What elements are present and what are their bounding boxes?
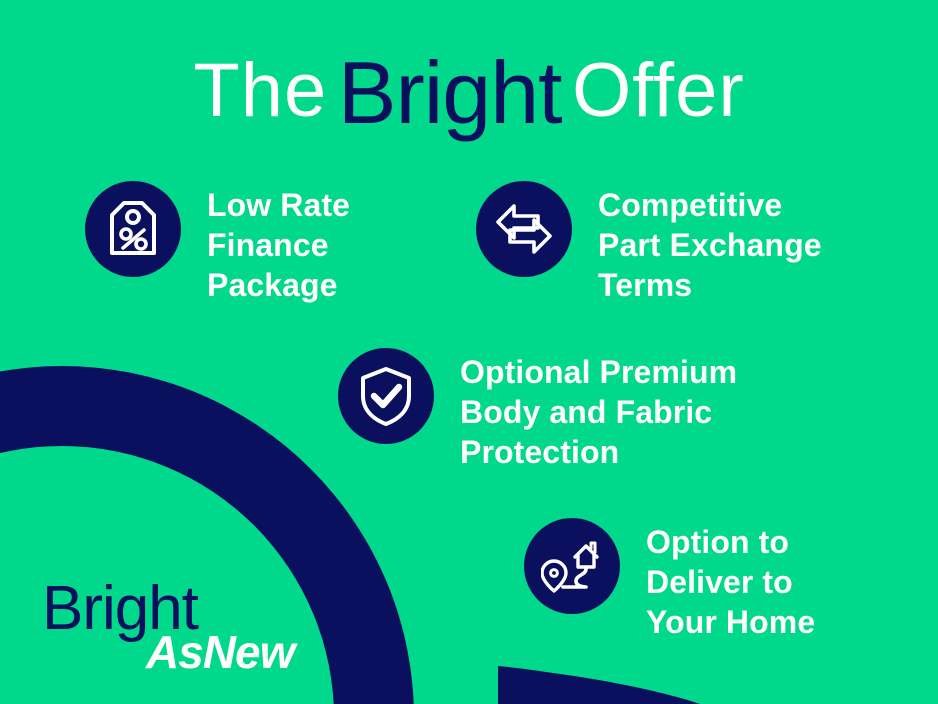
page-title: The Bright Offer — [0, 42, 938, 130]
navy-wedge-lower — [498, 666, 700, 704]
feature-label: Option to Deliver to Your Home — [646, 518, 815, 642]
feature-item-part-exchange: Competitive Part Exchange Terms — [476, 181, 822, 305]
navy-wedge — [500, 668, 700, 704]
delivery-route-home-icon — [541, 537, 603, 595]
title-brand-wordmark: Bright — [338, 49, 562, 137]
feature-icon-badge — [476, 181, 572, 277]
shield-check-icon — [359, 366, 413, 426]
feature-label: Optional Premium Body and Fabric Protect… — [460, 348, 737, 472]
feature-label: Competitive Part Exchange Terms — [598, 181, 822, 305]
feature-item-protection: Optional Premium Body and Fabric Protect… — [338, 348, 737, 472]
title-suffix: Offer — [572, 48, 745, 133]
feature-item-home-delivery: Option to Deliver to Your Home — [524, 518, 815, 642]
title-prefix: The — [193, 48, 327, 133]
feature-label: Low Rate Finance Package — [207, 181, 350, 305]
logo-secondary-text: AsNew — [146, 629, 294, 675]
exchange-arrows-icon — [494, 200, 554, 258]
poster-canvas: The Bright Offer Low Rate Finance Packag… — [0, 0, 938, 704]
feature-item-low-rate-finance: Low Rate Finance Package — [85, 181, 350, 305]
brand-logo: Bright AsNew — [42, 578, 342, 688]
feature-icon-badge — [85, 181, 181, 277]
feature-icon-badge — [524, 518, 620, 614]
price-tag-percent-icon — [107, 200, 159, 258]
feature-icon-badge — [338, 348, 434, 444]
